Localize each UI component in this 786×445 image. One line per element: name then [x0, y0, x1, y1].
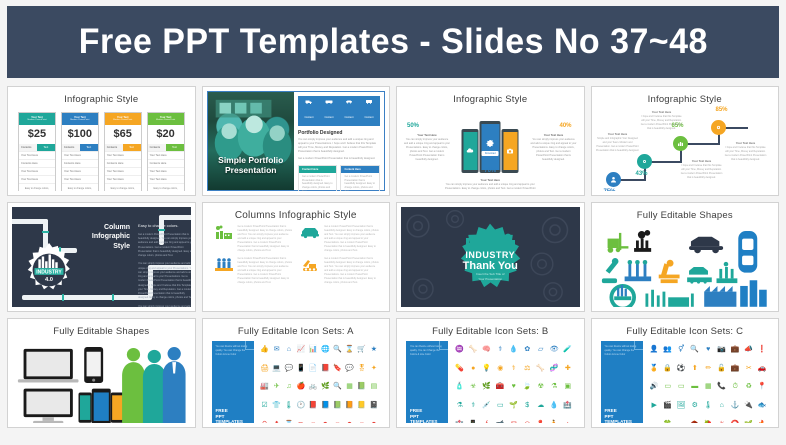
portfolio-heading: Portfolio Designed — [298, 130, 380, 136]
portfolio-body-2: Get a modern PowerPoint Presentation tha… — [298, 157, 380, 161]
bar-chart-icon[interactable]: 📊 — [309, 346, 318, 353]
car-icon[interactable]: Content — [339, 99, 359, 123]
card-line: Your Text Here — [19, 167, 55, 175]
gear-pattern-icon — [405, 213, 431, 239]
briefcase-icon[interactable]: 💼 — [731, 365, 740, 372]
body-paragraph-1: Get a modern PowerPoint Presentation tha… — [138, 233, 191, 259]
card-line: Contents Here — [19, 159, 55, 167]
leaf-icon[interactable]: 🌿 — [321, 383, 330, 390]
card-price: $100 — [62, 125, 98, 144]
cloud-icon[interactable]: ☁ — [651, 421, 658, 423]
battery-icon[interactable]: ▭ — [664, 383, 671, 390]
slide-thumbnail-thank-you[interactable]: INDUSTRY Thank You Insert the Sub Title … — [396, 202, 585, 312]
icon-row-teal: ▶🎬🖼⚙🌡⌂⚓🔌🐟 — [648, 397, 770, 415]
shirt-icon[interactable]: 👕 — [272, 402, 281, 409]
exclamation-icon[interactable]: ❗ — [758, 346, 767, 353]
medal-icon[interactable]: 🎖 — [357, 365, 366, 372]
slide-thumbnail-icon-set-b[interactable]: Fully Editable Icon Sets: B You can Resi… — [396, 318, 585, 428]
stat-text-right: You can simply impress your audience and… — [531, 138, 577, 161]
conveyor-car-icon — [687, 267, 712, 284]
icon-row-teal: ⚗⚕💉▭🌱$☁💧🏥 — [453, 397, 575, 415]
circle-icon[interactable]: ◉ — [497, 365, 503, 372]
card-sub: Modern PowerPoint — [106, 119, 140, 121]
mail-icon[interactable]: ✉ — [511, 421, 517, 423]
card-sub: Modern PowerPoint — [63, 119, 97, 121]
chart-icon[interactable] — [673, 136, 688, 151]
battery-icon[interactable]: ▭ — [678, 383, 685, 390]
slide-thumbnail-simple-portfolio[interactable]: Simple Portfolio Presentation Content — [202, 86, 391, 196]
chat-icon[interactable]: 💬 — [285, 365, 294, 372]
megaphone-icon[interactable]: 📣 — [744, 346, 753, 353]
pricing-card[interactable]: Your Text Modern PowerPoint $100 Content… — [61, 112, 99, 191]
industry-label: INDUSTRY — [462, 250, 518, 260]
gear-icon[interactable]: ⚙ — [692, 402, 698, 409]
search-icon[interactable]: 🔍 — [333, 346, 342, 353]
anchor-icon[interactable]: ⚓ — [731, 402, 740, 409]
book-icon[interactable]: 📕 — [309, 402, 318, 409]
step-text: Simple and Infographic Your Designed and… — [596, 137, 639, 152]
virus-icon[interactable]: ✿ — [524, 346, 530, 353]
card-line: Your Text Here — [62, 151, 98, 159]
smiley-icon[interactable]: ☻ — [346, 421, 353, 423]
icon-row-orange: 🖨💻💬📱📄📕🔖💬🎖✦ — [259, 360, 381, 378]
svg-text:4.0: 4.0 — [45, 277, 53, 283]
smiley-icon[interactable]: ☺ — [310, 421, 317, 423]
card-toggle-left: Contents — [62, 144, 80, 151]
cog-icon[interactable] — [711, 120, 726, 135]
test-tube-icon[interactable]: 🧪 — [563, 346, 572, 353]
pill-icon[interactable]: 💊 — [455, 365, 464, 372]
plug-icon[interactable]: 🔌 — [744, 402, 753, 409]
card-sub: Modern PowerPoint — [20, 119, 54, 121]
stat-text-left: You can simply impress your audience and… — [404, 138, 450, 161]
slide-thumbnail-editable-shapes-devices[interactable]: Fully Editable Shapes — [7, 318, 196, 428]
gear-icon[interactable] — [637, 154, 652, 169]
syringe-icon[interactable]: 💉 — [482, 402, 491, 409]
icon-grid: ♒🦴🧠⚕💧✿▱👁🧪 💊●💡◉⚕⚖🦴🧬✚ 🧴☣🌿🧰♥🍃☢⚗▣ ⚗⚕💉▭🌱$☁💧🏥 — [453, 341, 575, 423]
hourglass-icon[interactable]: ⌛ — [345, 346, 354, 353]
heart-icon[interactable]: ♥ — [706, 346, 710, 353]
thank-you-heading: Thank You — [462, 260, 518, 272]
circle-icon[interactable]: ⭕ — [731, 421, 740, 423]
icon-row-orange: 💊●💡◉⚕⚖🦴🧬✚ — [453, 360, 575, 378]
document-icon[interactable]: 📄 — [309, 365, 318, 372]
step-text: I hope and I believe that this Template … — [681, 164, 723, 179]
timer-icon[interactable]: ⏱ — [733, 383, 738, 390]
icon-label: Content — [344, 116, 353, 119]
bottle-icon[interactable]: 🧴 — [455, 383, 464, 390]
pin-icon[interactable]: ⚲ — [262, 421, 267, 423]
slide-title: Fully Editable Shapes — [12, 323, 191, 337]
medal-icon[interactable]: 🏅 — [650, 365, 659, 372]
card-line: Contents Here — [62, 159, 98, 167]
person-icon[interactable]: 👤 — [650, 346, 659, 353]
panel-free-label: FREE PPT TEMPLATES — [216, 408, 243, 423]
smiley-icon[interactable]: ☺ — [334, 421, 341, 423]
video-icon[interactable]: 🎬 — [663, 402, 672, 409]
sprout-icon[interactable]: 🍃 — [523, 383, 532, 390]
facebook-icon[interactable]: f — [486, 421, 488, 423]
pricing-card[interactable]: Your Text Modern PowerPoint $20 Contents… — [147, 112, 185, 191]
content-card[interactable]: Content Here Get a modern PowerPoint Pre… — [298, 165, 338, 191]
lock-icon[interactable]: 🔒 — [663, 365, 672, 372]
crane-icon — [658, 260, 679, 283]
bone-icon[interactable]: 🦴 — [469, 346, 478, 353]
laptop-icon[interactable]: 💻 — [272, 365, 281, 372]
video-icon[interactable]: 📹 — [496, 421, 505, 423]
cloud-icon[interactable]: ☁ — [678, 421, 685, 423]
star-icon[interactable]: ★ — [371, 346, 377, 353]
clock-icon[interactable]: 🕐 — [297, 402, 306, 409]
book-icon[interactable]: 📗 — [357, 383, 366, 390]
pencil-icon[interactable]: ✏ — [705, 365, 711, 372]
card-toggle-right: Text — [123, 144, 141, 151]
fire-icon[interactable]: 🔥 — [758, 421, 767, 423]
runner-icon[interactable]: 🏃 — [550, 421, 559, 423]
monitor-icon — [24, 389, 73, 423]
dish-icon[interactable]: ▣ — [564, 383, 571, 390]
truck-icon[interactable]: Content — [299, 99, 319, 123]
clover-icon[interactable]: 🍀 — [663, 421, 672, 423]
thermometer-icon[interactable]: 🌡 — [284, 402, 293, 409]
icon-row-red: ☁🍀☁🌰🍓✳⭕🌱🔥 — [648, 415, 770, 423]
heart-icon[interactable]: ♥ — [512, 383, 516, 390]
slide-title: Infographic Style — [401, 91, 580, 105]
printer-icon[interactable]: 🖨 — [260, 365, 269, 372]
lungs-icon[interactable]: ♒ — [455, 346, 464, 353]
factory-icon[interactable]: 🏭 — [260, 383, 269, 390]
book-icon[interactable]: 📒 — [357, 402, 366, 409]
cloud-icon[interactable]: ☁ — [537, 402, 544, 409]
step-percent: 85% — [716, 107, 728, 113]
thank-you-subtitle-2: Your Presentation — [462, 277, 518, 282]
card-line: Your Text Here — [105, 175, 141, 183]
plus-icon[interactable]: ✚ — [565, 365, 571, 372]
speaker-icon[interactable]: 🔊 — [650, 383, 659, 390]
column-text: Get a modern PowerPoint Presentation tha… — [238, 225, 293, 253]
book-icon[interactable]: 📕 — [321, 365, 330, 372]
recycle-icon[interactable]: ♻ — [746, 383, 752, 390]
user-icon[interactable] — [606, 172, 621, 187]
icon-row-blue: ♒🦴🧠⚕💧✿▱👁🧪 — [453, 341, 575, 359]
asterisk-icon[interactable]: ✳ — [719, 421, 725, 423]
bone-icon[interactable]: 🦴 — [536, 365, 545, 372]
gear-pattern-icon — [540, 215, 570, 245]
play-icon[interactable]: ▶ — [652, 402, 657, 409]
icon-row-green: 🏭✈♫🍎🚲🌿🔍▦📗▤ — [259, 378, 381, 396]
slide-title: Fully Editable Icon Sets: B — [401, 323, 580, 337]
card-head: Content Here — [341, 166, 379, 173]
checkbox-icon[interactable]: ☑ — [261, 402, 267, 409]
home-icon[interactable]: ⌂ — [720, 402, 724, 409]
icon-label: Content — [324, 116, 333, 119]
smoke-icon — [634, 230, 651, 252]
icon-row-green: 🧴☣🌿🧰♥🍃☢⚗▣ — [453, 378, 575, 396]
panel-free-label: FREE PPT TEMPLATES — [410, 408, 437, 423]
step-text: I hope and I believe that this Template … — [725, 146, 767, 161]
brain-icon[interactable]: 🧠 — [482, 346, 491, 353]
panel-free-label: FREE PPT TEMPLATES — [605, 408, 632, 423]
bicycle-icon[interactable]: 🚲 — [309, 383, 318, 390]
smiley-icon[interactable]: ☻ — [370, 421, 377, 423]
phone-center[interactable]: Download — [480, 121, 501, 173]
pin-icon[interactable]: 📍 — [536, 421, 545, 423]
car-side-icon — [689, 237, 723, 254]
vehicle-icon-bar: Content Content Content — [298, 96, 380, 126]
pricing-card[interactable]: Your Text Modern PowerPoint $65 Contents… — [104, 112, 142, 191]
card-footer: Easy to change colors, photos and Text. — [148, 183, 184, 191]
slide-title: Columns Infographic Style — [207, 207, 386, 221]
step-text: I hope and I believe that this Template … — [641, 115, 683, 130]
stat-label-bottom: Your Text Here — [441, 178, 539, 182]
cloud-icon — [467, 148, 474, 154]
card-icon[interactable]: ▭ — [497, 402, 504, 409]
at-icon[interactable]: ◎ — [524, 421, 530, 423]
plant-icon[interactable]: 🌱 — [509, 402, 518, 409]
blood-icon[interactable]: 💧 — [509, 346, 518, 353]
eye-icon[interactable]: 👁 — [550, 346, 559, 353]
smiley-icon[interactable]: ☻ — [322, 421, 329, 423]
caption-line-2: Presentation — [208, 165, 294, 176]
search-icon[interactable]: 🔍 — [690, 346, 699, 353]
icon-row-orange: 🏅🔒⚽⬆✏🔓💼✂🚗 — [648, 360, 770, 378]
card-line: Your Text Here — [148, 151, 184, 159]
grid-icon[interactable]: ▦ — [705, 383, 712, 390]
card-line: Your Text Here — [148, 167, 184, 175]
sparkle-icon[interactable]: ✦ — [371, 365, 377, 372]
download-button[interactable]: Download — [482, 151, 499, 156]
factory-icon — [213, 225, 235, 253]
corner-mark — [634, 341, 643, 350]
slide-thumbnail-columns-infographic[interactable]: Columns Infographic Style Get a modern P… — [202, 202, 391, 312]
portfolio-body: You can simply impress your audience and… — [298, 138, 380, 154]
scissors-icon[interactable]: ✂ — [746, 365, 752, 372]
card-footer: Easy to change colors, photos and Text. — [62, 183, 98, 191]
phone-right[interactable] — [502, 129, 519, 173]
music-icon[interactable]: ♫ — [286, 383, 291, 390]
industry-gear-icon: INDUSTRY 4.0 — [20, 241, 78, 299]
card-sub: Modern PowerPoint — [149, 119, 183, 121]
bulb-icon[interactable]: 💡 — [482, 365, 491, 372]
laptop-icon — [18, 349, 79, 383]
slide-thumbnail-pricing-table[interactable]: Infographic Style Your Text Modern Power… — [7, 86, 196, 196]
globe-icon[interactable]: 🌐 — [321, 346, 330, 353]
bookmark-icon[interactable]: 🔖 — [333, 365, 342, 372]
cart-icon[interactable]: 🛒 — [357, 346, 366, 353]
arrow-up-icon[interactable]: ⬆ — [692, 365, 698, 372]
card-line: Contents Here — [105, 159, 141, 167]
stat-percent-left: 50% — [407, 123, 419, 129]
body-paragraph-2: You can simply impress your audience and… — [138, 262, 191, 300]
card-price: $25 — [19, 125, 55, 144]
card-head: Content Here — [299, 166, 337, 173]
svg-text:INDUSTRY: INDUSTRY — [36, 269, 62, 275]
fish-icon[interactable]: 🐟 — [758, 402, 767, 409]
bus-icon[interactable]: Content — [359, 99, 379, 123]
stat-percent-bottom: 70% — [484, 168, 496, 174]
hospital-icon[interactable]: 🏥 — [563, 402, 572, 409]
free-ppt-panel: You can Resize without losing quality. Y… — [212, 341, 254, 423]
step-label: Your Text Here — [640, 110, 684, 114]
mail-icon[interactable]: ✉ — [274, 346, 280, 353]
factory-plant-icon — [704, 280, 767, 307]
excavator-icon — [299, 257, 321, 285]
plant-icon[interactable]: 🌱 — [744, 421, 753, 423]
medical-icon[interactable]: ⚕ — [512, 365, 516, 372]
banner-title: Free PPT Templates - Slides No 37~48 — [78, 22, 707, 62]
step-label: Your Text Here — [596, 132, 640, 136]
tablets-icon — [79, 389, 124, 423]
list-icon[interactable]: ▤ — [371, 383, 378, 390]
flask-icon[interactable]: ⚗ — [457, 402, 463, 409]
card-line: Your Text Here — [19, 151, 55, 159]
heading-line-2: Infographic — [84, 232, 130, 241]
card-body: Get a modern PowerPoint Presentation tha… — [299, 173, 337, 191]
dollar-icon[interactable]: $ — [525, 402, 529, 409]
card-toggle-left: Contents — [19, 144, 37, 151]
thank-you-content: INDUSTRY Thank You Insert the Sub Title … — [462, 233, 518, 281]
step-percent: 43% — [636, 171, 648, 177]
column-text: Get a modern PowerPoint Presentation tha… — [238, 257, 293, 285]
acorn-icon[interactable]: 🌰 — [690, 421, 699, 423]
book-icon[interactable]: 📙 — [345, 402, 354, 409]
van-icon[interactable]: Content — [319, 99, 339, 123]
icon-grid: 👍✉⌂📈📊🌐🔍⌛🛒★ 🖨💻💬📱📄📕🔖💬🎖✦ 🏭✈♫🍎🚲🌿🔍▦📗▤ ☑👕🌡🕐📕📘📗… — [259, 341, 381, 423]
plane-icon[interactable]: ✈ — [274, 383, 280, 390]
businessman-green-icon — [122, 348, 145, 423]
icon-label: Content — [304, 116, 313, 119]
arrow-up-icon[interactable]: ⬆ — [274, 421, 280, 423]
column-item: Get a modern PowerPoint Presentation tha… — [213, 225, 293, 253]
slide-thumbnail-icon-set-c[interactable]: Fully Editable Icon Sets: C You can Resi… — [591, 318, 780, 428]
gear-pattern-icon — [529, 251, 555, 277]
chart-up-icon[interactable]: 📈 — [297, 346, 306, 353]
apple-icon[interactable]: 🍎 — [297, 383, 306, 390]
slide-thumbnail-column-infographic[interactable]: INDUSTRY 4.0 Column Infographic Style Ea… — [7, 202, 196, 312]
book-icon[interactable]: 📘 — [321, 402, 330, 409]
slide-thumbnail-staircase-infographic[interactable]: Infographic Style — [591, 86, 780, 196]
stat-text-bottom: You can simply impress your audience and… — [445, 183, 535, 191]
card-body: Get a modern PowerPoint Presentation tha… — [341, 173, 379, 191]
thermometer-icon[interactable]: 🌡 — [704, 402, 713, 409]
heading-line-3: Style — [84, 242, 130, 251]
portfolio-caption: Simple Portfolio Presentation — [208, 155, 294, 176]
machine-icon — [624, 260, 651, 281]
card-line: Your Text Here — [105, 151, 141, 159]
pin-icon[interactable]: 📍 — [758, 383, 767, 390]
car-icon[interactable]: 🚗 — [758, 365, 767, 372]
book-icon[interactable]: 📗 — [333, 402, 342, 409]
kit-icon[interactable]: 🧰 — [496, 383, 505, 390]
industry-gear-icon — [611, 285, 634, 307]
phone-icon[interactable]: 📱 — [297, 365, 306, 372]
bandage-icon[interactable]: ▱ — [538, 346, 543, 353]
car-icon — [299, 225, 321, 253]
card-line: Your Text Here — [62, 167, 98, 175]
content-card[interactable]: Content Here Get a modern PowerPoint Pre… — [340, 165, 380, 191]
column-item: Get a modern PowerPoint Presentation tha… — [299, 225, 379, 253]
body-paragraph-3: You can simply impress your audience and… — [138, 305, 191, 307]
grid-icon[interactable]: ▦ — [346, 383, 353, 390]
circle-icon[interactable]: ● — [471, 365, 475, 372]
slide-title: Fully Editable Shapes — [596, 207, 775, 221]
image-icon[interactable]: 🖼 — [677, 402, 686, 409]
stat-label-right: Your Text Here — [531, 133, 577, 137]
pipe-joint — [42, 231, 49, 233]
column-body: Easy to change colors. Get a modern Powe… — [138, 223, 191, 307]
slide-thumbnail-phones-infographic[interactable]: Infographic Style Download — [396, 86, 585, 196]
stethoscope-icon[interactable]: ⚕ — [471, 402, 475, 409]
card-toggle-right: Text — [37, 144, 55, 151]
people-icon[interactable]: 👥 — [663, 346, 672, 353]
workers-icon — [213, 257, 235, 285]
hospital-icon[interactable]: 🏥 — [455, 421, 464, 423]
home-icon[interactable]: ⌂ — [287, 346, 291, 353]
column-text: Get a modern PowerPoint Presentation tha… — [324, 225, 379, 253]
dna-icon[interactable]: 🧬 — [550, 365, 559, 372]
triangle-icon[interactable]: ▲ — [564, 421, 571, 423]
phone-left[interactable] — [462, 129, 479, 173]
pricing-card[interactable]: Your Text Modern PowerPoint $25 Contents… — [18, 112, 56, 191]
smartphone-icon — [84, 347, 103, 383]
card-toggle-right: Text — [80, 144, 98, 151]
corner-mark — [245, 341, 254, 350]
camera-icon[interactable]: 📷 — [717, 346, 726, 353]
slide-thumbnail-icon-set-a[interactable]: Fully Editable Icon Sets: A You can Resi… — [202, 318, 391, 428]
berry-icon[interactable]: 🍓 — [704, 421, 713, 423]
hourglass-icon[interactable]: ⌛ — [285, 421, 294, 423]
device-shapes-group — [16, 339, 187, 423]
stat-label-left: Your Text Here — [404, 133, 450, 137]
slide-thumbnail-editable-shapes-industrial[interactable]: Fully Editable Shapes — [591, 202, 780, 312]
scale-icon[interactable]: ⚖ — [524, 365, 530, 372]
tooth-icon[interactable]: ⚕ — [498, 346, 502, 353]
microscope-icon[interactable]: ⚗ — [551, 383, 557, 390]
conveyor-robot-icon — [716, 262, 737, 283]
book-icon[interactable]: 📓 — [370, 402, 379, 409]
column-item: Get a modern PowerPoint Presentation tha… — [213, 257, 293, 285]
phone-group: Download — [462, 121, 519, 173]
stat-percent-right: 40% — [559, 123, 571, 129]
radiation-icon[interactable]: ☢ — [538, 383, 544, 390]
gender-icon[interactable]: ⚥ — [678, 346, 684, 353]
icon-row-blue: 👍✉⌂📈📊🌐🔍⌛🛒★ — [259, 341, 381, 359]
icon-row-green: 🔊▭▭▬▦📞⏱♻📍 — [648, 378, 770, 396]
phone-icon[interactable]: 📞 — [717, 383, 726, 390]
card-line: Your Text Here — [62, 175, 98, 183]
battery-icon[interactable]: ▬ — [691, 383, 698, 390]
unlock-icon[interactable]: 🔓 — [717, 365, 726, 372]
slide-title: Fully Editable Icon Sets: C — [596, 323, 775, 337]
phone-icon[interactable]: 📱 — [469, 421, 478, 423]
thumbs-up-icon[interactable]: 👍 — [260, 346, 269, 353]
factory-skyline-icon — [645, 290, 693, 307]
briefcase-icon[interactable]: 💼 — [731, 346, 740, 353]
biohazard-icon[interactable]: ☣ — [470, 383, 476, 390]
smiley-icon[interactable]: ☺ — [358, 421, 365, 423]
column-heading: Column Infographic Style — [84, 223, 130, 251]
search-icon[interactable]: 🔍 — [333, 383, 342, 390]
leaf-icon[interactable]: 🌿 — [482, 383, 491, 390]
ball-icon[interactable]: ⚽ — [677, 365, 686, 372]
icon-row-red: 🏥📱f📹✉◎📍🏃▲ — [453, 415, 575, 423]
speech-icon[interactable]: 💬 — [345, 365, 354, 372]
icon-label: Content — [364, 116, 373, 119]
pencil-icon[interactable]: ✏ — [298, 421, 304, 423]
industrial-shapes-group — [600, 223, 771, 307]
drop-icon[interactable]: 💧 — [550, 402, 559, 409]
card-footer: Easy to change colors, photos and Text. — [19, 183, 55, 191]
